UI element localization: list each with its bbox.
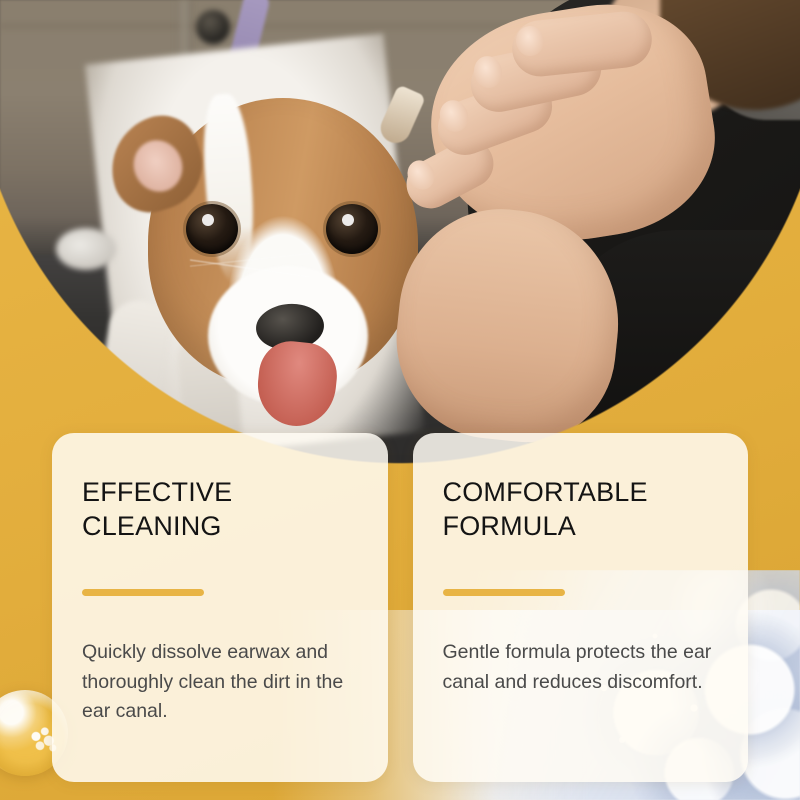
feature-card-body: Gentle formula protects the ear canal an… (443, 638, 719, 697)
feature-card-divider (82, 589, 204, 596)
feature-card-divider (443, 589, 565, 596)
dog-whiskers (190, 238, 310, 298)
hero-photo-image (0, 0, 800, 470)
feature-graphic: EFFECTIVE CLEANING Quickly dissolve earw… (0, 0, 800, 800)
hero-photo (0, 0, 800, 470)
feature-card-effective-cleaning: EFFECTIVE CLEANING Quickly dissolve earw… (52, 433, 388, 782)
feature-card-title: COMFORTABLE FORMULA (443, 475, 719, 543)
feature-card-list: EFFECTIVE CLEANING Quickly dissolve earw… (52, 433, 748, 782)
feature-card-comfortable-formula: COMFORTABLE FORMULA Gentle formula prote… (413, 433, 749, 782)
feature-card-title: EFFECTIVE CLEANING (82, 475, 358, 543)
feature-card-body: Quickly dissolve earwax and thoroughly c… (82, 638, 358, 727)
dog-eye-right (326, 204, 378, 254)
photo-stand-knob (196, 10, 230, 44)
dog-paw (56, 228, 116, 270)
